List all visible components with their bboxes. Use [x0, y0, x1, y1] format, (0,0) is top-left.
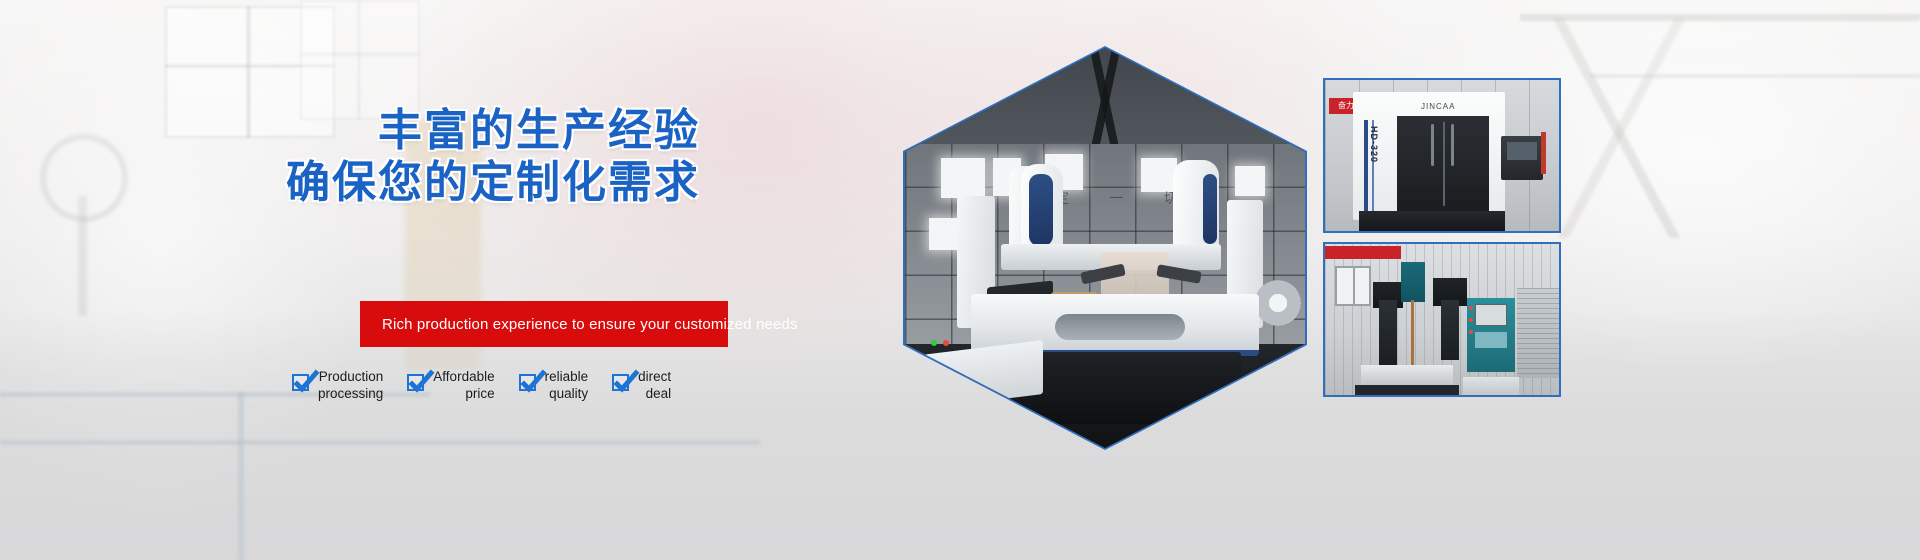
- copy-column: 丰富的生产经验 确保您的定制化需求 Rich production experi…: [0, 0, 760, 560]
- thumb2-console-base: [1463, 377, 1519, 395]
- subheadline-text: Rich production experience to ensure you…: [382, 316, 798, 333]
- feature-label-line-2: price: [433, 385, 494, 402]
- thumb2-spindle-head: [1401, 262, 1425, 302]
- feature-label-line-2: quality: [545, 385, 589, 402]
- thumb1-door-handle: [1431, 124, 1434, 166]
- thumb1-machine-door: [1397, 116, 1489, 212]
- feature-label-line-1: reliable: [545, 368, 589, 385]
- factory-window: [1235, 166, 1265, 196]
- thumb2-wall-banner: [1325, 246, 1401, 259]
- feature-label: Production processing: [318, 368, 383, 402]
- thumb2-console-button: [1469, 318, 1473, 322]
- subheadline-banner: Rich production experience to ensure you…: [360, 301, 728, 347]
- machine-bed-window: [1055, 314, 1185, 340]
- hexagon-photo: 定 一 切: [905, 48, 1305, 448]
- feature-item-reliable-quality[interactable]: reliable quality: [519, 368, 589, 402]
- feature-item-production-processing[interactable]: Production processing: [292, 368, 383, 402]
- thumb2-gantry-column-right: [1441, 300, 1459, 360]
- thumb1-console-accent: [1541, 132, 1546, 174]
- machine-panel-left: [1029, 174, 1053, 246]
- feature-item-affordable-price[interactable]: Affordable price: [407, 368, 494, 402]
- feature-item-direct-deal[interactable]: direct deal: [612, 368, 671, 402]
- checkbox-checked-icon: [612, 374, 629, 391]
- feature-label-line-2: processing: [318, 385, 383, 402]
- headline-line-1: 丰富的生产经验: [378, 105, 700, 156]
- feature-label: Affordable price: [433, 368, 494, 402]
- thumb2-work-tank: [1355, 385, 1459, 395]
- feature-label-line-2: deal: [638, 385, 671, 402]
- thumb1-machine-plinth: [1359, 211, 1505, 231]
- thumb1-stripe-primary: [1364, 120, 1368, 212]
- feature-label-line-1: Affordable: [433, 368, 494, 385]
- page-title: 丰富的生产经验 确保您的定制化需求: [0, 105, 700, 209]
- machine-reel: [1255, 280, 1301, 326]
- promo-banner: 丰富的生产经验 确保您的定制化需求 Rich production experi…: [0, 0, 1920, 560]
- hero-image-hexagon[interactable]: 定 一 切: [903, 46, 1307, 450]
- thumb2-console-button: [1469, 330, 1473, 334]
- feature-label-line-1: direct: [638, 368, 671, 385]
- headline-line-2: 确保您的定制化需求: [0, 157, 700, 209]
- thumb1-console-screen: [1507, 142, 1537, 160]
- thumb2-window: [1335, 266, 1371, 306]
- checkbox-checked-icon: [407, 374, 424, 391]
- factory-window: [941, 158, 985, 198]
- factory-window: [1141, 158, 1177, 192]
- feature-label: reliable quality: [545, 368, 589, 402]
- thumb2-console-screen: [1475, 304, 1507, 326]
- thumb1-door-handle: [1451, 124, 1454, 166]
- indicator-green-icon: [931, 340, 937, 346]
- thumbnail-hd320[interactable]: 奋力 HD-320 JINCAA: [1323, 78, 1561, 233]
- thumbnail-edm-machine[interactable]: [1323, 242, 1561, 397]
- feature-label: direct deal: [638, 368, 671, 402]
- checkbox-checked-icon: [519, 374, 536, 391]
- thumb1-brand-label: JINCAA: [1421, 102, 1455, 111]
- feature-list: Production processing Affordable price: [292, 368, 671, 402]
- checkbox-checked-icon: [292, 374, 309, 391]
- thumb2-cabinet: [1517, 288, 1559, 378]
- thumb2-gantry-column-left: [1379, 300, 1397, 368]
- thumbnail-gallery: 奋力 HD-320 JINCAA: [1323, 78, 1561, 397]
- factory-roof: [905, 48, 1305, 154]
- thumb2-console-keypad: [1475, 332, 1507, 348]
- machine-panel-right: [1203, 174, 1217, 244]
- thumb1-model-label: HD-320: [1369, 126, 1379, 163]
- indicator-red-icon: [943, 340, 949, 346]
- feature-label-line-1: Production: [318, 368, 383, 385]
- thumb2-console-button: [1469, 306, 1473, 310]
